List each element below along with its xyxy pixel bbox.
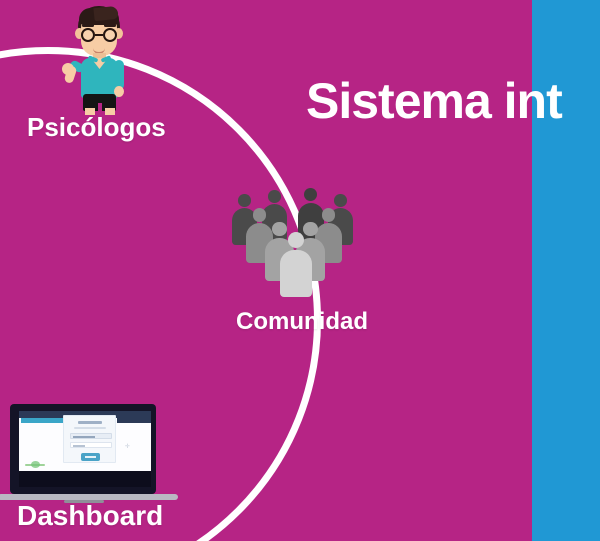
- person-head-shape: [322, 208, 336, 222]
- screen-submit-button-shape: [81, 453, 100, 461]
- eyebrow-right-shape: [104, 24, 116, 27]
- glasses-lens-left-icon: [81, 28, 95, 42]
- laptop-lid-shape: ✛: [10, 404, 156, 494]
- person-head-shape: [304, 188, 317, 201]
- person-silhouette: [280, 232, 312, 295]
- person-body-shape: [280, 250, 312, 297]
- screen-card-subtitle-shape: [74, 427, 106, 429]
- page-title: Sistema int: [306, 74, 562, 129]
- screen-cursor-icon: ✛: [125, 445, 130, 450]
- glasses-lens-right-icon: [103, 28, 117, 42]
- label-dashboard: Dashboard: [17, 500, 163, 532]
- glasses-bridge-shape: [95, 34, 103, 36]
- psychologist-icon: [62, 2, 138, 114]
- slide-canvas: Sistema int Psicólogos Comunidad: [0, 0, 600, 541]
- eyebrow-left-shape: [82, 24, 94, 27]
- label-psychologists: Psicólogos: [27, 112, 166, 143]
- person-head-shape: [253, 208, 267, 222]
- screen-active-tab-shape: [21, 418, 69, 423]
- screen-right-nav-shape: [117, 418, 151, 423]
- person-head-shape: [268, 190, 281, 203]
- hand-left-shape: [62, 63, 74, 75]
- person-head-shape: [334, 194, 347, 207]
- screen-status-highlight: [25, 461, 47, 469]
- screen-input-field-1: [70, 433, 112, 439]
- screen-modal-card: [63, 415, 116, 463]
- laptop-icon: ✛: [8, 404, 178, 508]
- screen-card-title-shape: [78, 421, 102, 424]
- label-community: Comunidad: [236, 308, 368, 336]
- laptop-screen-lower-band: [19, 471, 151, 487]
- screen-input-field-2: [70, 442, 112, 448]
- leg-gap-shape: [98, 103, 102, 112]
- community-icon: [232, 186, 377, 308]
- laptop-screen: ✛: [19, 411, 151, 471]
- person-head-shape: [288, 232, 304, 248]
- person-head-shape: [238, 194, 251, 207]
